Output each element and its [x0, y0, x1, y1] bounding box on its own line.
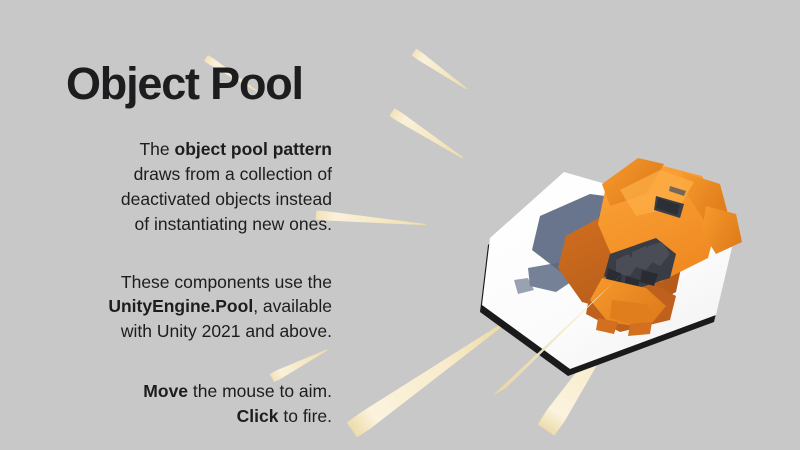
api-class-name: UnityEngine.Pool	[108, 296, 253, 316]
paragraph-spacer-2	[40, 344, 332, 379]
controls-paragraph: Move the mouse to aim. Click to fire.	[40, 379, 332, 429]
control-click-text: to fire.	[279, 406, 333, 426]
api-line-2-plain: , available	[253, 296, 332, 316]
turret-scene	[470, 150, 800, 400]
control-click-keyword: Click	[237, 406, 279, 426]
text-column: Object Pool The object pool pattern draw…	[40, 60, 332, 429]
paragraph-spacer-1	[40, 237, 332, 270]
muzzle-beam	[492, 274, 622, 396]
page-title: Object Pool	[66, 60, 332, 107]
projectile-6	[537, 300, 638, 436]
intro-line-2: draws from a collection of	[134, 164, 332, 184]
slide-root: Object Pool The object pool pattern draw…	[0, 0, 800, 450]
intro-paragraph: The object pool pattern draws from a col…	[40, 137, 332, 236]
projectile-3	[389, 108, 465, 162]
api-line-1: These components use the	[121, 272, 332, 292]
api-line-3: with Unity 2021 and above.	[121, 321, 332, 341]
intro-line-3: deactivated objects instead	[121, 189, 332, 209]
projectile-2	[412, 49, 469, 93]
projectile-5	[347, 312, 515, 438]
control-move-text: the mouse to aim.	[188, 381, 332, 401]
projectile-4	[316, 210, 426, 229]
turret	[558, 158, 742, 336]
gun-barrels	[604, 238, 676, 292]
api-paragraph: These components use the UnityEngine.Poo…	[40, 270, 332, 345]
intro-line-1-bold: object pool pattern	[175, 139, 333, 159]
platform	[480, 172, 738, 376]
intro-line-4: of instantiating new ones.	[135, 214, 333, 234]
control-move-keyword: Move	[143, 381, 188, 401]
intro-line-1-plain: The	[139, 139, 174, 159]
